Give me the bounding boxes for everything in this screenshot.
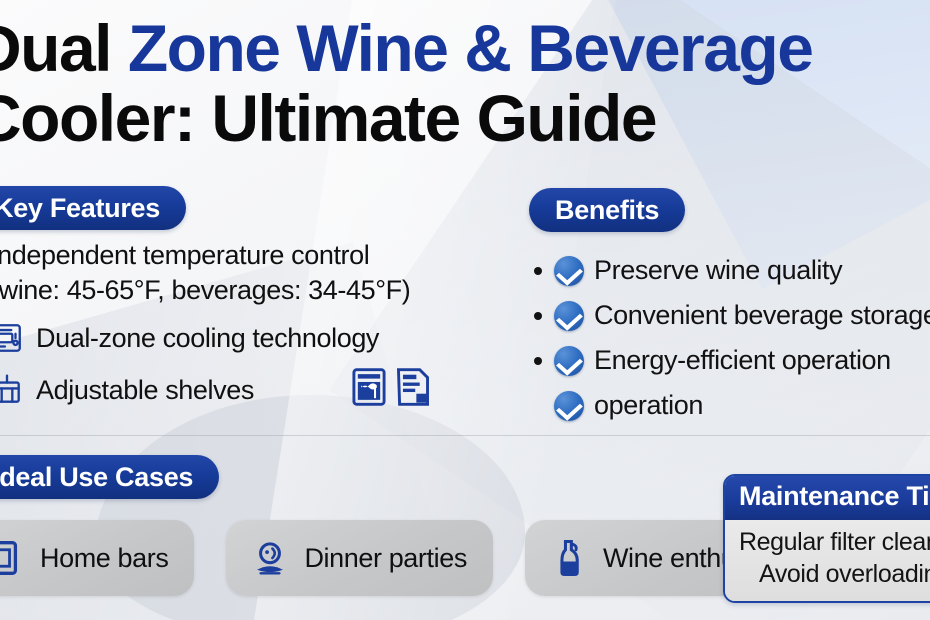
decorative-icon-pair <box>352 368 430 406</box>
list-item-label: Preserve wine quality <box>594 255 842 286</box>
list-item: Dual-zone cooling technology <box>0 317 460 359</box>
section-badge-use-cases: Ideal Use Cases <box>0 455 219 499</box>
maintenance-tips-body: Regular filter cleaning Avoid overloadin… <box>725 520 930 601</box>
list-item-label: Convenient beverage storage <box>594 300 930 331</box>
home-bar-icon <box>0 538 24 578</box>
use-case-chip-label: Dinner parties <box>304 543 466 574</box>
check-circle-icon <box>554 391 584 421</box>
page-title-line-1: Dual Zone Wine & Beverage <box>0 16 930 80</box>
list-item: Energy-efficient operation <box>534 338 930 383</box>
check-circle-icon <box>554 256 584 286</box>
list-item-label: operation <box>594 390 703 421</box>
page-title-line-2: Cooler: Ultimate Guide <box>0 86 930 150</box>
list-item: operation <box>534 383 930 428</box>
section-divider-line <box>0 435 930 436</box>
infographic-canvas: Dual Zone Wine & Beverage Cooler: Ultima… <box>0 0 930 620</box>
key-features-lead-line-1: Independent temperature control <box>0 238 460 273</box>
use-case-chip-home-bars[interactable]: Home bars <box>0 520 194 596</box>
bullet-dot <box>534 312 542 320</box>
dinner-party-icon <box>252 538 288 578</box>
list-item: Convenient beverage storage <box>534 293 930 338</box>
wine-cooler-cabinet-icon <box>352 368 386 406</box>
maintenance-tip-line: Regular filter cleaning <box>739 527 930 559</box>
check-circle-icon <box>554 301 584 331</box>
maintenance-tips-title: Maintenance Tips <box>725 476 930 520</box>
spec-document-icon <box>396 368 430 406</box>
bullet-dot <box>534 357 542 365</box>
list-item-label: Dual-zone cooling technology <box>36 323 379 354</box>
maintenance-tip-line: Avoid overloading <box>739 559 930 591</box>
use-case-chip-row: Home bars Dinner parties Wine enthusiast… <box>0 520 828 596</box>
list-item: Preserve wine quality <box>534 248 930 293</box>
wine-bottle-icon <box>551 538 587 578</box>
page-title-brand-text: Zone Wine & Beverage <box>128 11 813 85</box>
section-badge-benefits: Benefits <box>529 188 685 232</box>
use-case-chip-label: Home bars <box>40 543 168 574</box>
use-case-chip-dinner-parties[interactable]: Dinner parties <box>226 520 492 596</box>
thermostat-control-icon <box>0 321 24 355</box>
section-badge-key-features: Key Features <box>0 186 186 230</box>
list-item-label: Adjustable shelves <box>36 375 254 406</box>
page-title-word-dual: Dual <box>0 11 128 85</box>
check-circle-icon <box>554 346 584 376</box>
list-item-label: Energy-efficient operation <box>594 345 891 376</box>
benefits-list: Preserve wine quality Convenient beverag… <box>534 248 930 428</box>
bullet-dot <box>534 267 542 275</box>
maintenance-tips-card: Maintenance Tips Regular filter cleaning… <box>723 474 930 603</box>
adjustable-shelf-icon <box>0 373 24 407</box>
page-title: Dual Zone Wine & Beverage Cooler: Ultima… <box>0 16 930 150</box>
key-features-lead-line-2: (wine: 45-65°F, beverages: 34-45°F) <box>0 273 460 308</box>
